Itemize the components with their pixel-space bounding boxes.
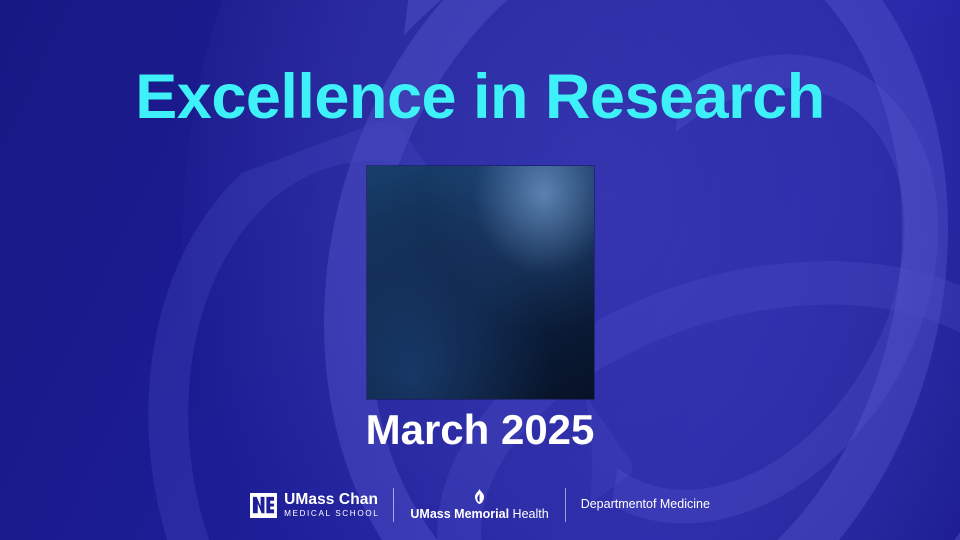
umass-chan-subtitle: MEDICAL SCHOOL <box>284 510 379 519</box>
umass-chan-logo: UMass Chan MEDICAL SCHOOL <box>250 492 393 519</box>
microscope-photo <box>367 166 594 399</box>
umass-chan-name: UMass Chan <box>284 492 379 508</box>
umass-memorial-flame-icon <box>473 489 486 504</box>
presentation-slide: Excellence in Research <box>0 0 960 540</box>
page-title: Excellence in Research <box>0 63 960 132</box>
umass-memorial-light-text: Health <box>513 507 549 521</box>
umass-chan-shield-icon <box>250 493 277 518</box>
department-of-medicine-logo: Department of Medicine <box>566 497 710 513</box>
umass-memorial-bold-text: UMass Memorial <box>410 507 509 521</box>
department-line-1: Department <box>581 497 646 513</box>
logo-bar: UMass Chan MEDICAL SCHOOL UMass Memorial… <box>0 488 960 522</box>
umass-chan-wordmark: UMass Chan MEDICAL SCHOOL <box>284 492 379 519</box>
slide-subtitle: March 2025 <box>0 406 960 454</box>
umass-memorial-logo: UMass Memorial Health <box>394 489 564 521</box>
department-line-2: of Medicine <box>646 497 710 513</box>
umass-memorial-wordmark: UMass Memorial Health <box>410 507 548 521</box>
